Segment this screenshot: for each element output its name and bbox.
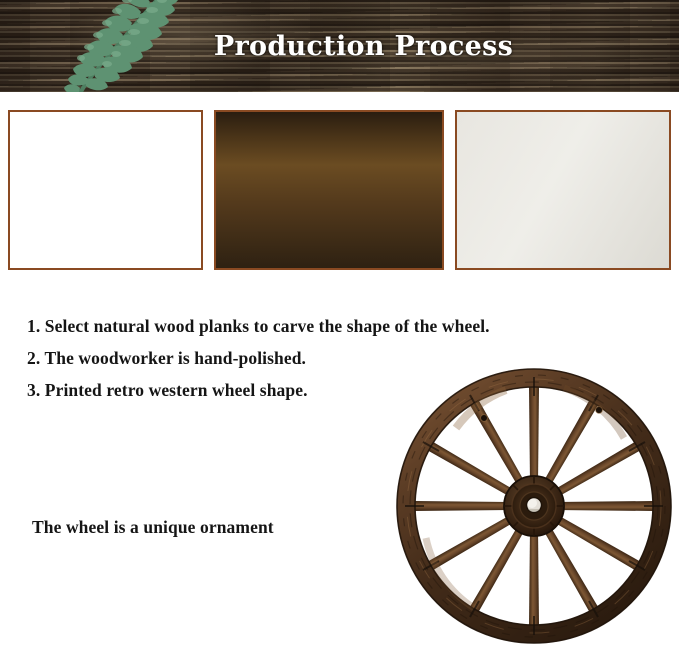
header-banner: Production Process <box>0 0 679 92</box>
panel-wheel-hub <box>455 110 671 270</box>
process-photo-row <box>0 110 679 270</box>
process-steps-list: 1. Select natural wood planks to carve t… <box>27 310 547 406</box>
wagon-wheel-icon <box>396 368 672 644</box>
panel-plywood <box>8 110 203 270</box>
production-process-infographic: Production Process <box>0 0 679 653</box>
step-item: 2. The woodworker is hand-polished. <box>27 342 547 374</box>
wagon-wheel-product-image <box>396 368 672 644</box>
banner-title-container: Production Process <box>0 0 679 92</box>
step-item: 1. Select natural wood planks to carve t… <box>27 310 547 342</box>
tagline-text: The wheel is a unique ornament <box>32 517 274 538</box>
wheel-hub <box>504 476 564 536</box>
panel-woodworkers <box>214 110 444 270</box>
step-item: 3. Printed retro western wheel shape. <box>27 374 547 406</box>
page-title: Production Process <box>214 31 513 62</box>
